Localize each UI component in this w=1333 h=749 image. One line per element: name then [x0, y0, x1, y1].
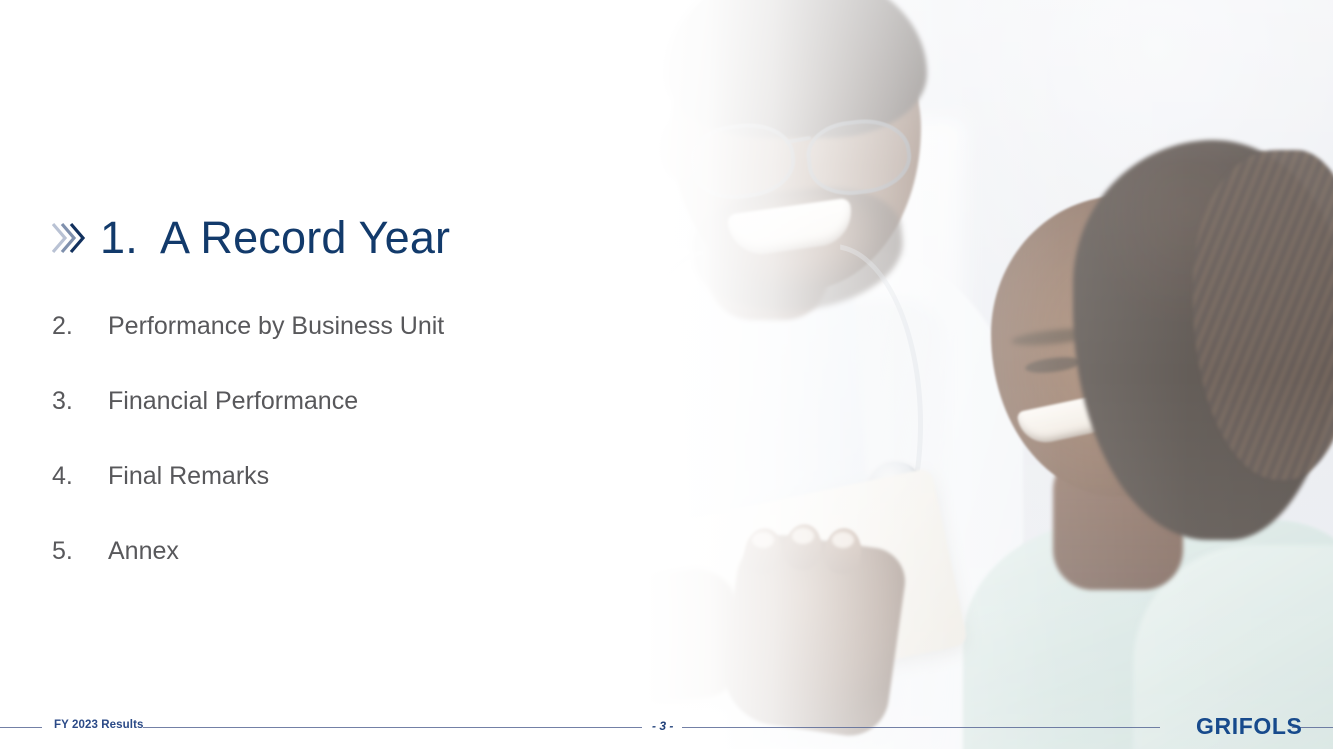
agenda-item-number: 1.: [100, 212, 138, 264]
agenda-photo: [533, 0, 1333, 749]
agenda-list: 2. Performance by Business Unit 3. Finan…: [52, 312, 572, 612]
agenda-item-number: 5.: [52, 537, 108, 566]
grifols-logo: GRIFOLS: [1196, 713, 1302, 740]
eyeglass-bridge: [785, 136, 811, 144]
agenda-item-label: Annex: [108, 537, 179, 566]
agenda-item-label: A Record Year: [160, 212, 450, 264]
page-number: - 3 -: [652, 719, 673, 733]
eyeglass-lens-right: [803, 114, 915, 200]
footer-deck-title: FY 2023 Results: [54, 719, 144, 731]
agenda-item[interactable]: 4. Final Remarks: [52, 462, 572, 537]
agenda-item-label: Financial Performance: [108, 387, 358, 416]
agenda-item-number: 2.: [52, 312, 108, 341]
footer-rule-segment: [0, 727, 42, 728]
doctor-eyeglasses: [685, 118, 921, 194]
agenda-item-label: Performance by Business Unit: [108, 312, 444, 341]
footer-rule-segment: [143, 727, 642, 728]
slide-footer: FY 2023 Results - 3 - GRIFOLS: [0, 707, 1333, 749]
agenda-item[interactable]: 3. Financial Performance: [52, 387, 572, 462]
agenda-item-active[interactable]: 1. A Record Year: [52, 212, 450, 264]
double-chevron-right-icon: [52, 218, 86, 258]
fingernail: [752, 532, 774, 548]
agenda-item-number: 3.: [52, 387, 108, 416]
fingernail: [792, 528, 814, 544]
agenda-item-number: 4.: [52, 462, 108, 491]
agenda-item-label: Final Remarks: [108, 462, 269, 491]
agenda-item-active-text: 1. A Record Year: [100, 212, 450, 264]
footer-rule-segment: [682, 727, 1160, 728]
fingernail: [832, 532, 854, 548]
agenda-item[interactable]: 2. Performance by Business Unit: [52, 312, 572, 387]
presentation-slide: 1. A Record Year 2. Performance by Busin…: [0, 0, 1333, 749]
agenda-content: 1. A Record Year 2. Performance by Busin…: [0, 0, 620, 749]
agenda-item[interactable]: 5. Annex: [52, 537, 572, 612]
photo-canvas: [533, 0, 1333, 749]
eyeglass-lens-left: [687, 118, 799, 204]
